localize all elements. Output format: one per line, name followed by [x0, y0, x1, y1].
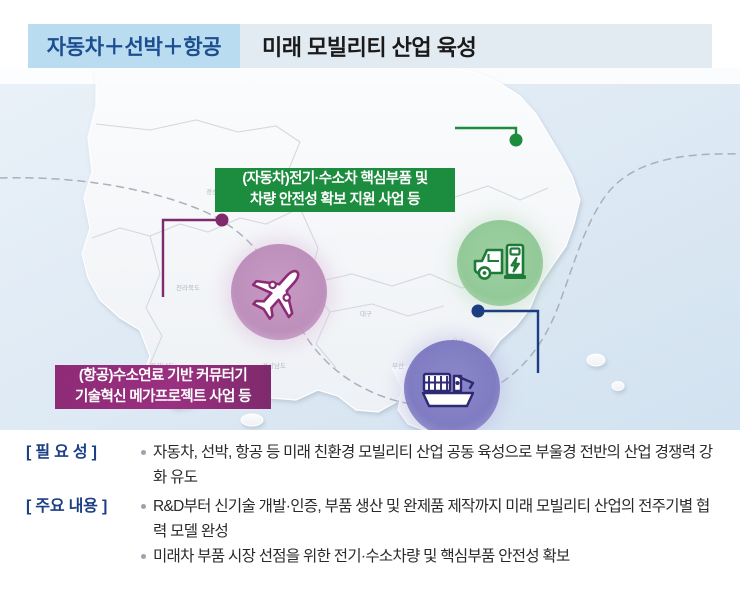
- svg-text:대구: 대구: [360, 310, 372, 318]
- note-item: 미래차 부품 시장 선점을 위한 전기·수소차량 및 핵심부품 안전성 확보: [140, 544, 714, 569]
- note-body-necessity: 자동차, 선박, 항공 등 미래 친환경 모빌리티 산업 공동 육성으로 부울경…: [136, 440, 714, 490]
- note-label-necessity: [ 필 요 성 ]: [26, 440, 136, 466]
- callout-aviation-line2: 기술혁신 메가프로젝트 사업 등: [75, 387, 251, 408]
- page-title: 미래 모빌리티 산업 육성: [240, 24, 712, 68]
- callout-automobile-line1: (자동차)전기·수소차 핵심부품 및: [242, 169, 427, 190]
- note-row-necessity: [ 필 요 성 ] 자동차, 선박, 항공 등 미래 친환경 모빌리티 산업 공…: [26, 440, 714, 490]
- ev-car-charging-icon: [471, 237, 529, 289]
- map-stage: 경상북도 울진 영덕 포항 대구 울산 부산 경상남도 전라북도 전라남도: [0, 68, 740, 430]
- note-item: R&D부터 신기술 개발·인증, 부품 생산 및 완제품 제작까지 미래 모빌리…: [140, 494, 714, 544]
- infographic-page: 자동차＋선박＋항공 미래 모빌리티 산업 육성: [0, 0, 740, 605]
- callout-aviation[interactable]: (항공)수소연료 기반 커뮤터기 기술혁신 메가프로젝트 사업 등: [55, 365, 271, 409]
- callout-automobile[interactable]: (자동차)전기·수소차 핵심부품 및 차량 안전성 확보 지원 사업 등: [215, 168, 455, 212]
- bubble-aviation[interactable]: [231, 244, 327, 340]
- callout-automobile-line2: 차량 안전성 확보 지원 사업 등: [250, 190, 420, 211]
- notes-section: [ 필 요 성 ] 자동차, 선박, 항공 등 미래 친환경 모빌리티 산업 공…: [0, 440, 740, 574]
- airplane-icon: [249, 262, 309, 322]
- bubble-automobile[interactable]: [457, 220, 543, 306]
- callout-aviation-line1: (항공)수소연료 기반 커뮤터기: [79, 366, 247, 387]
- note-row-contents: [ 주요 내용 ] R&D부터 신기술 개발·인증, 부품 생산 및 완제품 제…: [26, 494, 714, 569]
- island-shape: [587, 354, 605, 366]
- note-body-contents: R&D부터 신기술 개발·인증, 부품 생산 및 완제품 제작까지 미래 모빌리…: [136, 494, 714, 569]
- header-banner: 자동차＋선박＋항공 미래 모빌리티 산업 육성: [28, 24, 712, 68]
- island-shape: [241, 414, 263, 426]
- note-label-contents: [ 주요 내용 ]: [26, 494, 136, 520]
- cargo-ship-icon: [421, 362, 483, 414]
- note-item: 자동차, 선박, 항공 등 미래 친환경 모빌리티 산업 공동 육성으로 부울경…: [140, 440, 714, 490]
- header-sector-tag: 자동차＋선박＋항공: [28, 24, 240, 68]
- island-shape: [612, 382, 624, 391]
- svg-text:전라북도: 전라북도: [176, 283, 200, 292]
- bubble-ship[interactable]: [404, 340, 500, 430]
